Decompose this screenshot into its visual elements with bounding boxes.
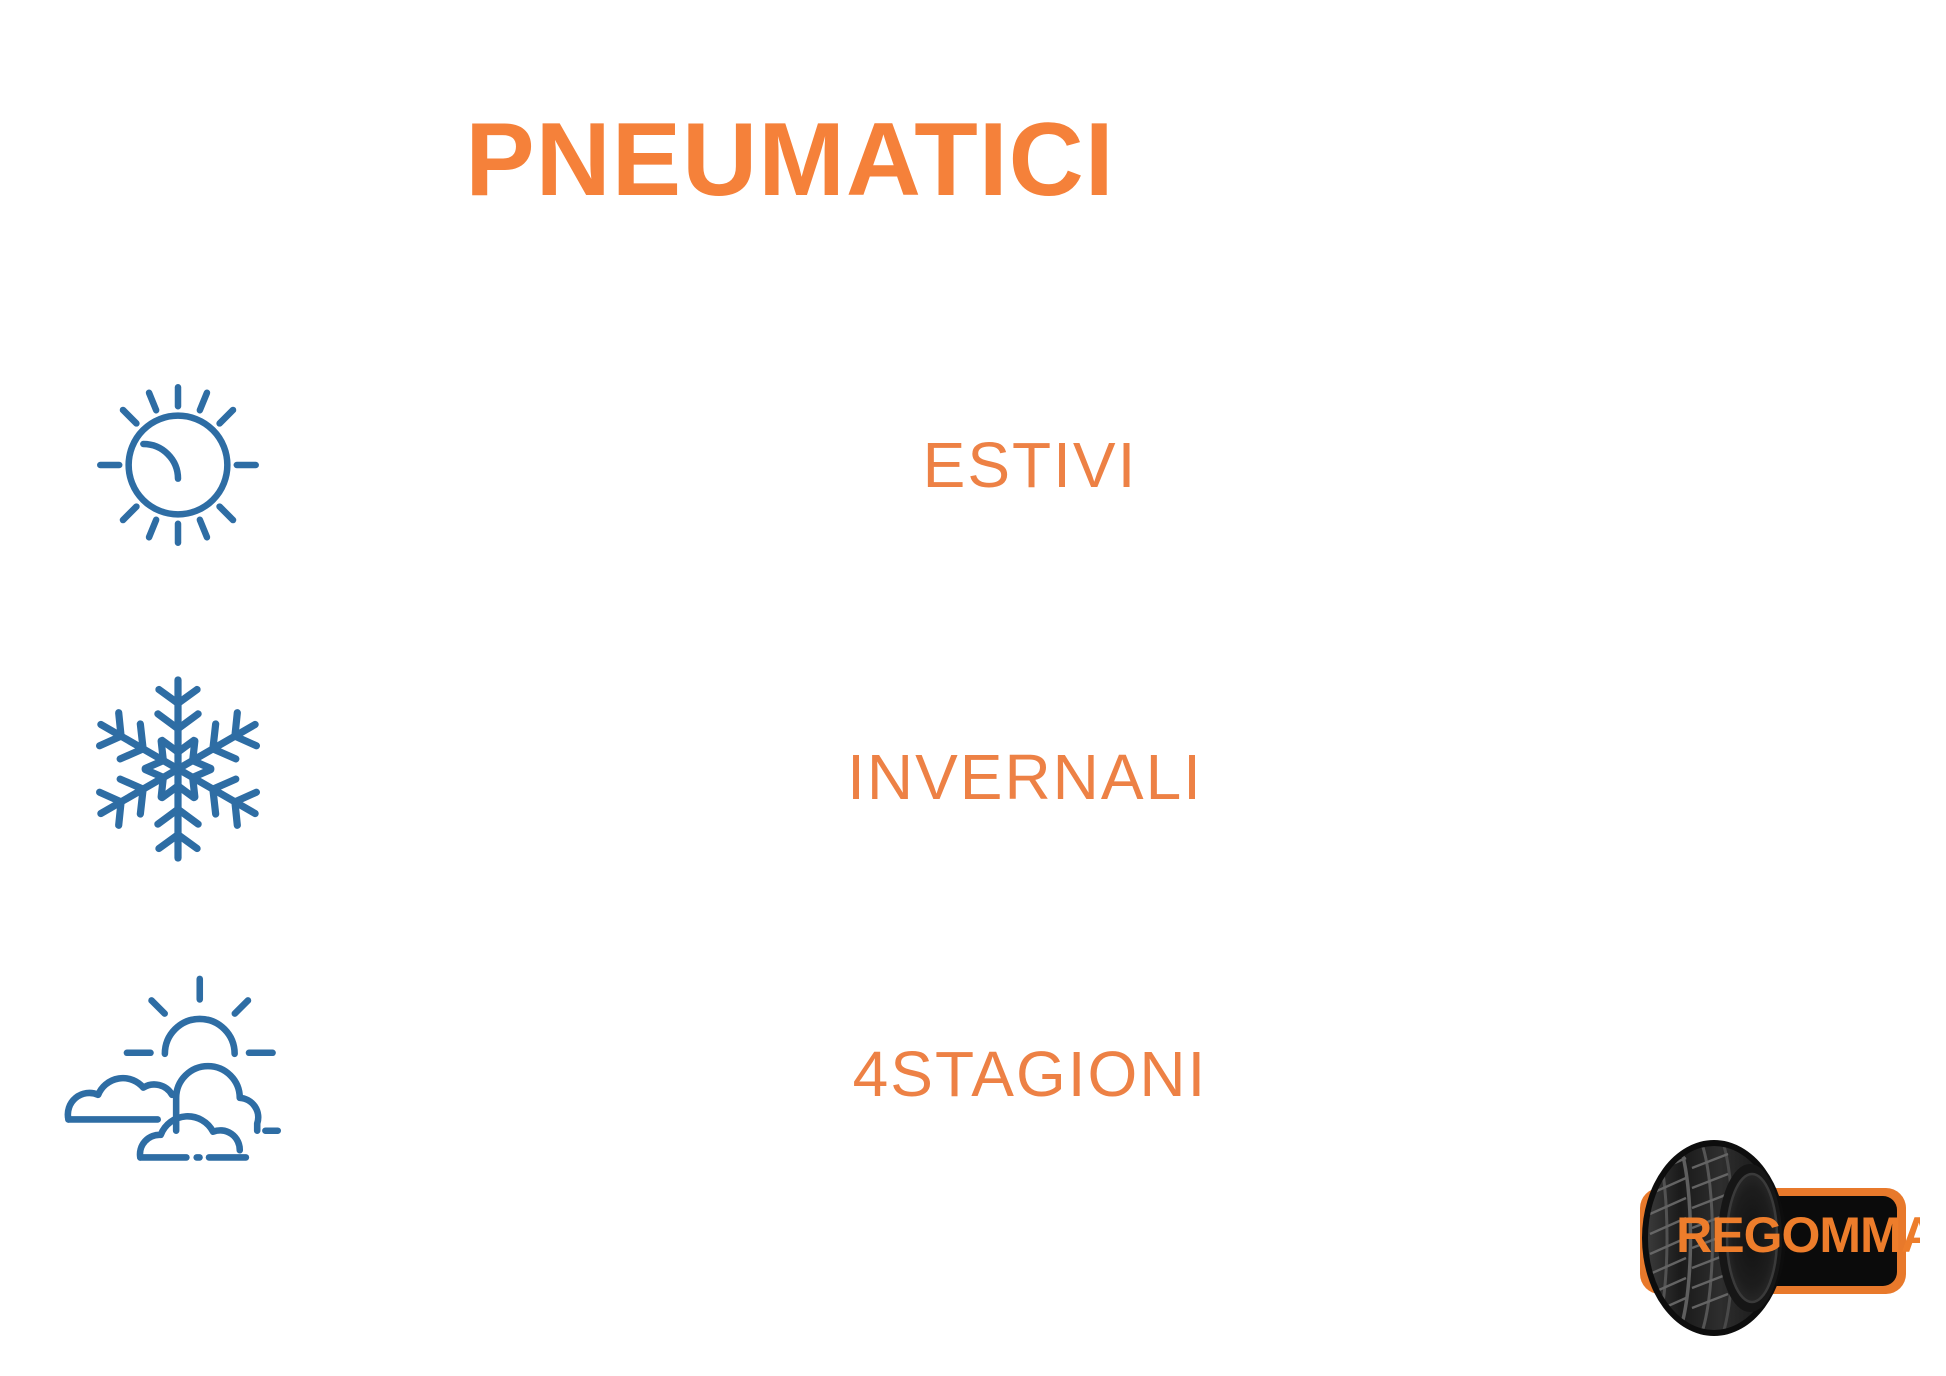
poster-canvas: PNEUMATICI bbox=[0, 0, 1946, 1376]
snowflake-icon bbox=[0, 654, 418, 884]
category-label-4stagioni: 4STAGIONI bbox=[853, 1042, 1208, 1106]
sun-behind-clouds-icon bbox=[0, 947, 410, 1177]
category-label-cell-estivi: ESTIVI bbox=[615, 433, 1435, 497]
category-label-invernali: INVERNALI bbox=[847, 745, 1203, 809]
regomma-logo: REGOMMA bbox=[1624, 1132, 1920, 1344]
category-label-cell-4stagioni: 4STAGIONI bbox=[615, 1042, 1435, 1106]
page-title: PNEUMATICI bbox=[0, 108, 1580, 212]
category-row-4stagioni: 4STAGIONI bbox=[0, 905, 1300, 1135]
category-row-invernali: INVERNALI bbox=[0, 640, 1300, 870]
logo-wordmark: REGOMMA bbox=[1676, 1207, 1920, 1263]
category-label-estivi: ESTIVI bbox=[923, 433, 1138, 497]
category-row-estivi: ESTIVI bbox=[0, 350, 1300, 580]
category-label-cell-invernali: INVERNALI bbox=[610, 745, 1430, 809]
sun-icon bbox=[0, 350, 418, 580]
